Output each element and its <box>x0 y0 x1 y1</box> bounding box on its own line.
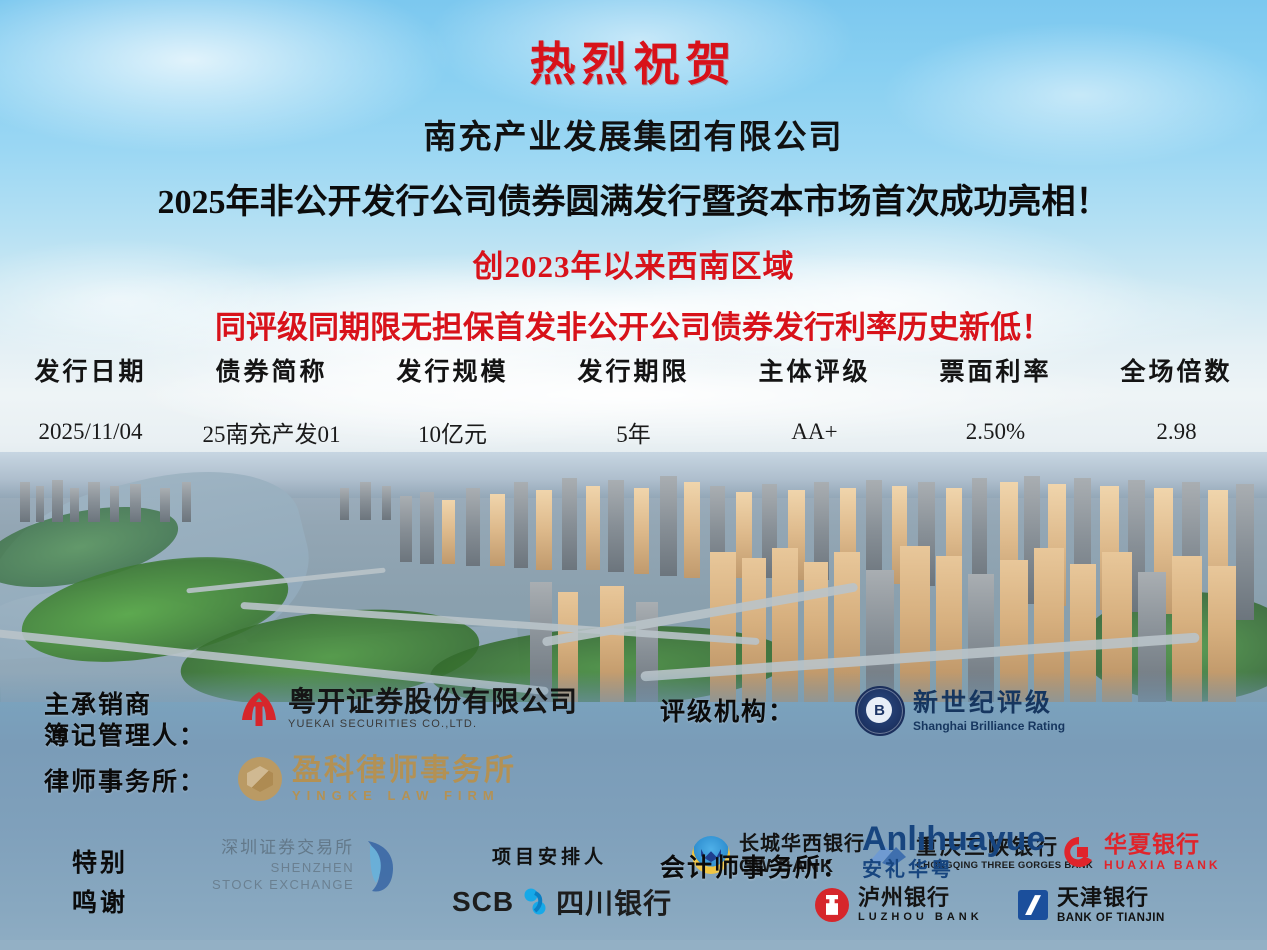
rating-agency-label: 评级机构： <box>660 692 795 728</box>
underwriter-label-line1: 主承销商 <box>44 690 206 721</box>
yuekai-name-en: YUEKAI SECURITIES CO.,LTD. <box>288 719 578 730</box>
yingke-name-cn: 盈科律师事务所 <box>292 756 516 786</box>
yingke-law-firm-logo: 盈科律师事务所 YINGKE LAW FIRM <box>238 756 516 802</box>
building <box>684 482 700 578</box>
special-thanks-label: 特别 鸣谢 <box>72 844 128 924</box>
building <box>20 482 30 522</box>
brilliance-name-cn: 新世纪评级 <box>913 691 1065 716</box>
building <box>340 488 349 520</box>
building <box>36 486 44 522</box>
yingke-text: 盈科律师事务所 YINGKE LAW FIRM <box>292 756 516 802</box>
building <box>466 488 480 566</box>
building <box>382 486 391 520</box>
building <box>70 488 79 522</box>
cell-oversubscription: 2.98 <box>1086 414 1267 450</box>
cell-issue-date: 2025/11/04 <box>0 414 181 450</box>
building <box>110 486 119 522</box>
underwriter-row: 主承销商 簿记管理人： 粤开证券股份有限公司 YUEKAI SECURITIES… <box>0 690 1267 750</box>
cityscape-photo <box>0 452 1267 702</box>
column-header-tenor: 发行期限 <box>543 348 724 414</box>
headline-record-line1: 创2023年以来西南区域 <box>0 241 1267 286</box>
bond-details-table: 发行日期 债券简称 发行规模 发行期限 主体评级 票面利率 全场倍数 2025/… <box>0 348 1267 450</box>
special-thanks-line2: 鸣谢 <box>72 884 128 924</box>
building <box>88 482 100 522</box>
building <box>562 478 577 570</box>
building <box>634 488 649 574</box>
building <box>490 494 505 566</box>
cell-bond-abbr: 25南充产发01 <box>181 414 362 450</box>
shanghai-brilliance-logo: B 新世纪评级 Shanghai Brilliance Rating <box>855 686 1065 736</box>
building <box>1236 484 1254 620</box>
cell-issuer-rating: AA+ <box>724 414 905 450</box>
building <box>420 492 434 564</box>
building <box>608 480 624 572</box>
headline-record-line2: 同评级同期限无担保首发非公开公司债券发行利率历史新低！ <box>0 302 1267 347</box>
yingke-cube-icon <box>238 757 282 801</box>
building <box>660 476 677 576</box>
building <box>586 486 600 570</box>
yuekai-mark-icon <box>238 688 280 730</box>
brilliance-text: 新世纪评级 Shanghai Brilliance Rating <box>913 691 1065 732</box>
brilliance-seal-icon: B <box>855 686 905 736</box>
law-firm-label: 律师事务所： <box>44 762 206 798</box>
yuekai-name-cn: 粤开证券股份有限公司 <box>288 688 578 716</box>
building <box>866 480 882 582</box>
building <box>52 480 63 522</box>
special-thanks-line1: 特别 <box>72 844 128 884</box>
table-row: 2025/11/04 25南充产发01 10亿元 5年 AA+ 2.50% 2.… <box>0 414 1267 450</box>
cell-issue-size: 10亿元 <box>362 414 543 450</box>
yuekai-securities-logo: 粤开证券股份有限公司 YUEKAI SECURITIES CO.,LTD. <box>238 688 578 730</box>
congratulations-poster: 热烈祝贺 南充产业发展集团有限公司 2025年非公开发行公司债券圆满发行暨资本市… <box>0 0 1267 950</box>
building <box>360 482 371 520</box>
building <box>536 490 552 570</box>
law-firm-row: 律师事务所： 盈科律师事务所 YINGKE LAW FIRM 会计师事务所： A… <box>0 760 1267 820</box>
yuekai-text: 粤开证券股份有限公司 YUEKAI SECURITIES CO.,LTD. <box>288 688 578 730</box>
brilliance-name-en: Shanghai Brilliance Rating <box>913 720 1065 732</box>
column-header-issue-size: 发行规模 <box>362 348 543 414</box>
yingke-name-en: YINGKE LAW FIRM <box>292 789 516 802</box>
column-header-issuer-rating: 主体评级 <box>724 348 905 414</box>
column-header-oversubscription: 全场倍数 <box>1086 348 1267 414</box>
cell-coupon-rate: 2.50% <box>905 414 1086 450</box>
column-header-bond-abbr: 债券简称 <box>181 348 362 414</box>
headings-block: 热烈祝贺 南充产业发展集团有限公司 2025年非公开发行公司债券圆满发行暨资本市… <box>0 0 1267 347</box>
underwriter-label-line2: 簿记管理人： <box>44 721 206 752</box>
column-header-issue-date: 发行日期 <box>0 348 181 414</box>
company-name: 南充产业发展集团有限公司 <box>0 110 1267 158</box>
headline-issuance: 2025年非公开发行公司债券圆满发行暨资本市场首次成功亮相！ <box>0 174 1267 223</box>
building <box>182 482 191 522</box>
building <box>130 484 141 522</box>
building <box>972 478 987 586</box>
special-thanks-block: 特别 鸣谢 <box>0 828 1267 950</box>
congratulations-title: 热烈祝贺 <box>0 40 1267 88</box>
column-header-coupon-rate: 票面利率 <box>905 348 1086 414</box>
table-header-row: 发行日期 债券简称 发行规模 发行期限 主体评级 票面利率 全场倍数 <box>0 348 1267 414</box>
building <box>442 500 455 564</box>
building <box>400 496 412 562</box>
building <box>160 488 170 522</box>
underwriter-label: 主承销商 簿记管理人： <box>44 690 206 752</box>
cell-tenor: 5年 <box>543 414 724 450</box>
building <box>514 482 528 568</box>
brilliance-seal-letter: B <box>866 697 892 723</box>
